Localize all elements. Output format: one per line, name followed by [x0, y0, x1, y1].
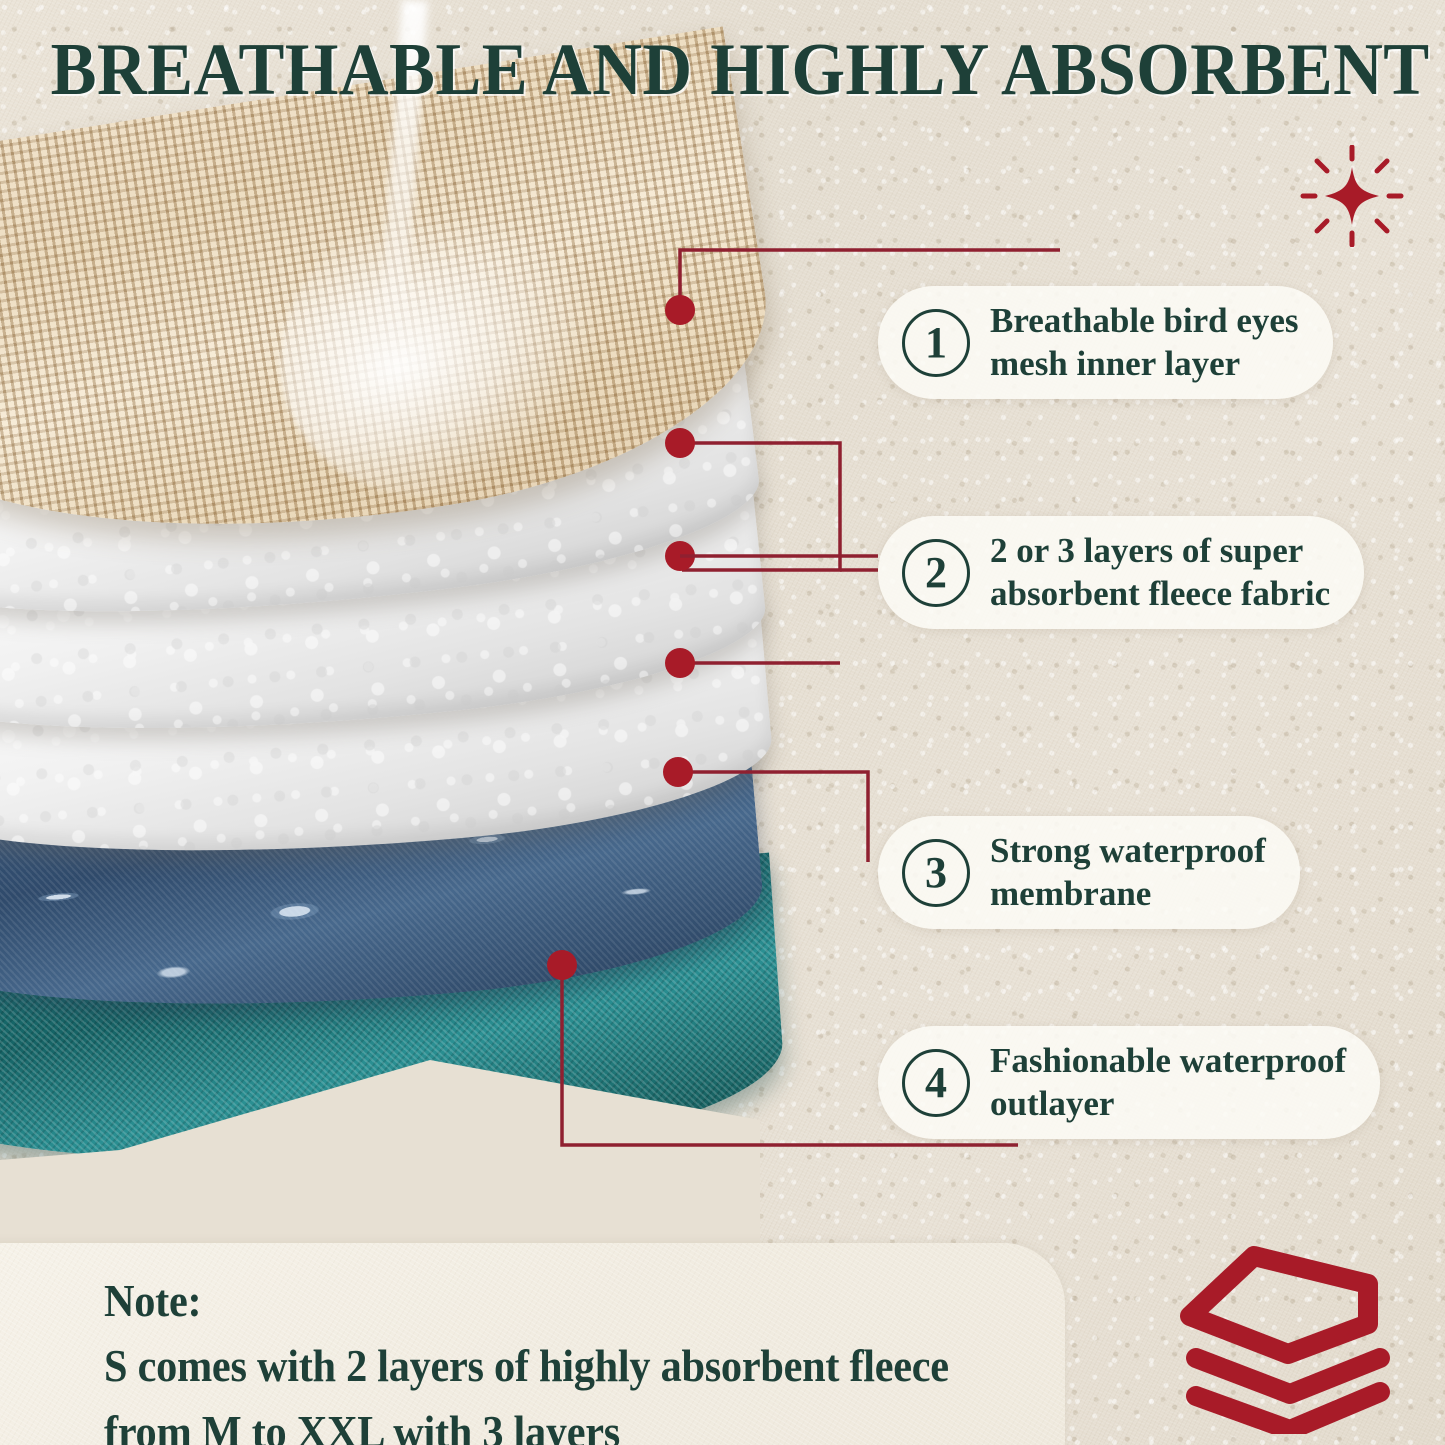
- fabric-layer-stack-photo: [0, 95, 790, 1185]
- callout-1-label: Breathable bird eyes mesh inner layer: [990, 300, 1299, 385]
- note-text: Note: S comes with 2 layers of highly ab…: [104, 1268, 1033, 1445]
- page-title: BREATHABLE AND HIGHLY ABSORBENT: [51, 28, 1395, 113]
- callout-4-number: 4: [902, 1049, 970, 1117]
- callout-3[interactable]: 3 Strong waterproof membrane: [878, 816, 1300, 929]
- callout-2-number: 2: [902, 539, 970, 607]
- layers-stack-icon: [1168, 1238, 1412, 1434]
- sparkle-icon: [1297, 145, 1407, 247]
- callout-1[interactable]: 1 Breathable bird eyes mesh inner layer: [878, 286, 1333, 399]
- infographic-canvas: BREATHABLE AND HIGHLY ABSORBENT: [0, 0, 1445, 1445]
- callout-2[interactable]: 2 2 or 3 layers of super absorbent fleec…: [878, 516, 1364, 629]
- callout-2-label: 2 or 3 layers of super absorbent fleece …: [990, 530, 1330, 615]
- callout-3-number: 3: [902, 839, 970, 907]
- callout-4-label: Fashionable waterproof outlayer: [990, 1040, 1346, 1125]
- callout-4[interactable]: 4 Fashionable waterproof outlayer: [878, 1026, 1380, 1139]
- callout-3-label: Strong waterproof membrane: [990, 830, 1266, 915]
- callout-1-number: 1: [902, 309, 970, 377]
